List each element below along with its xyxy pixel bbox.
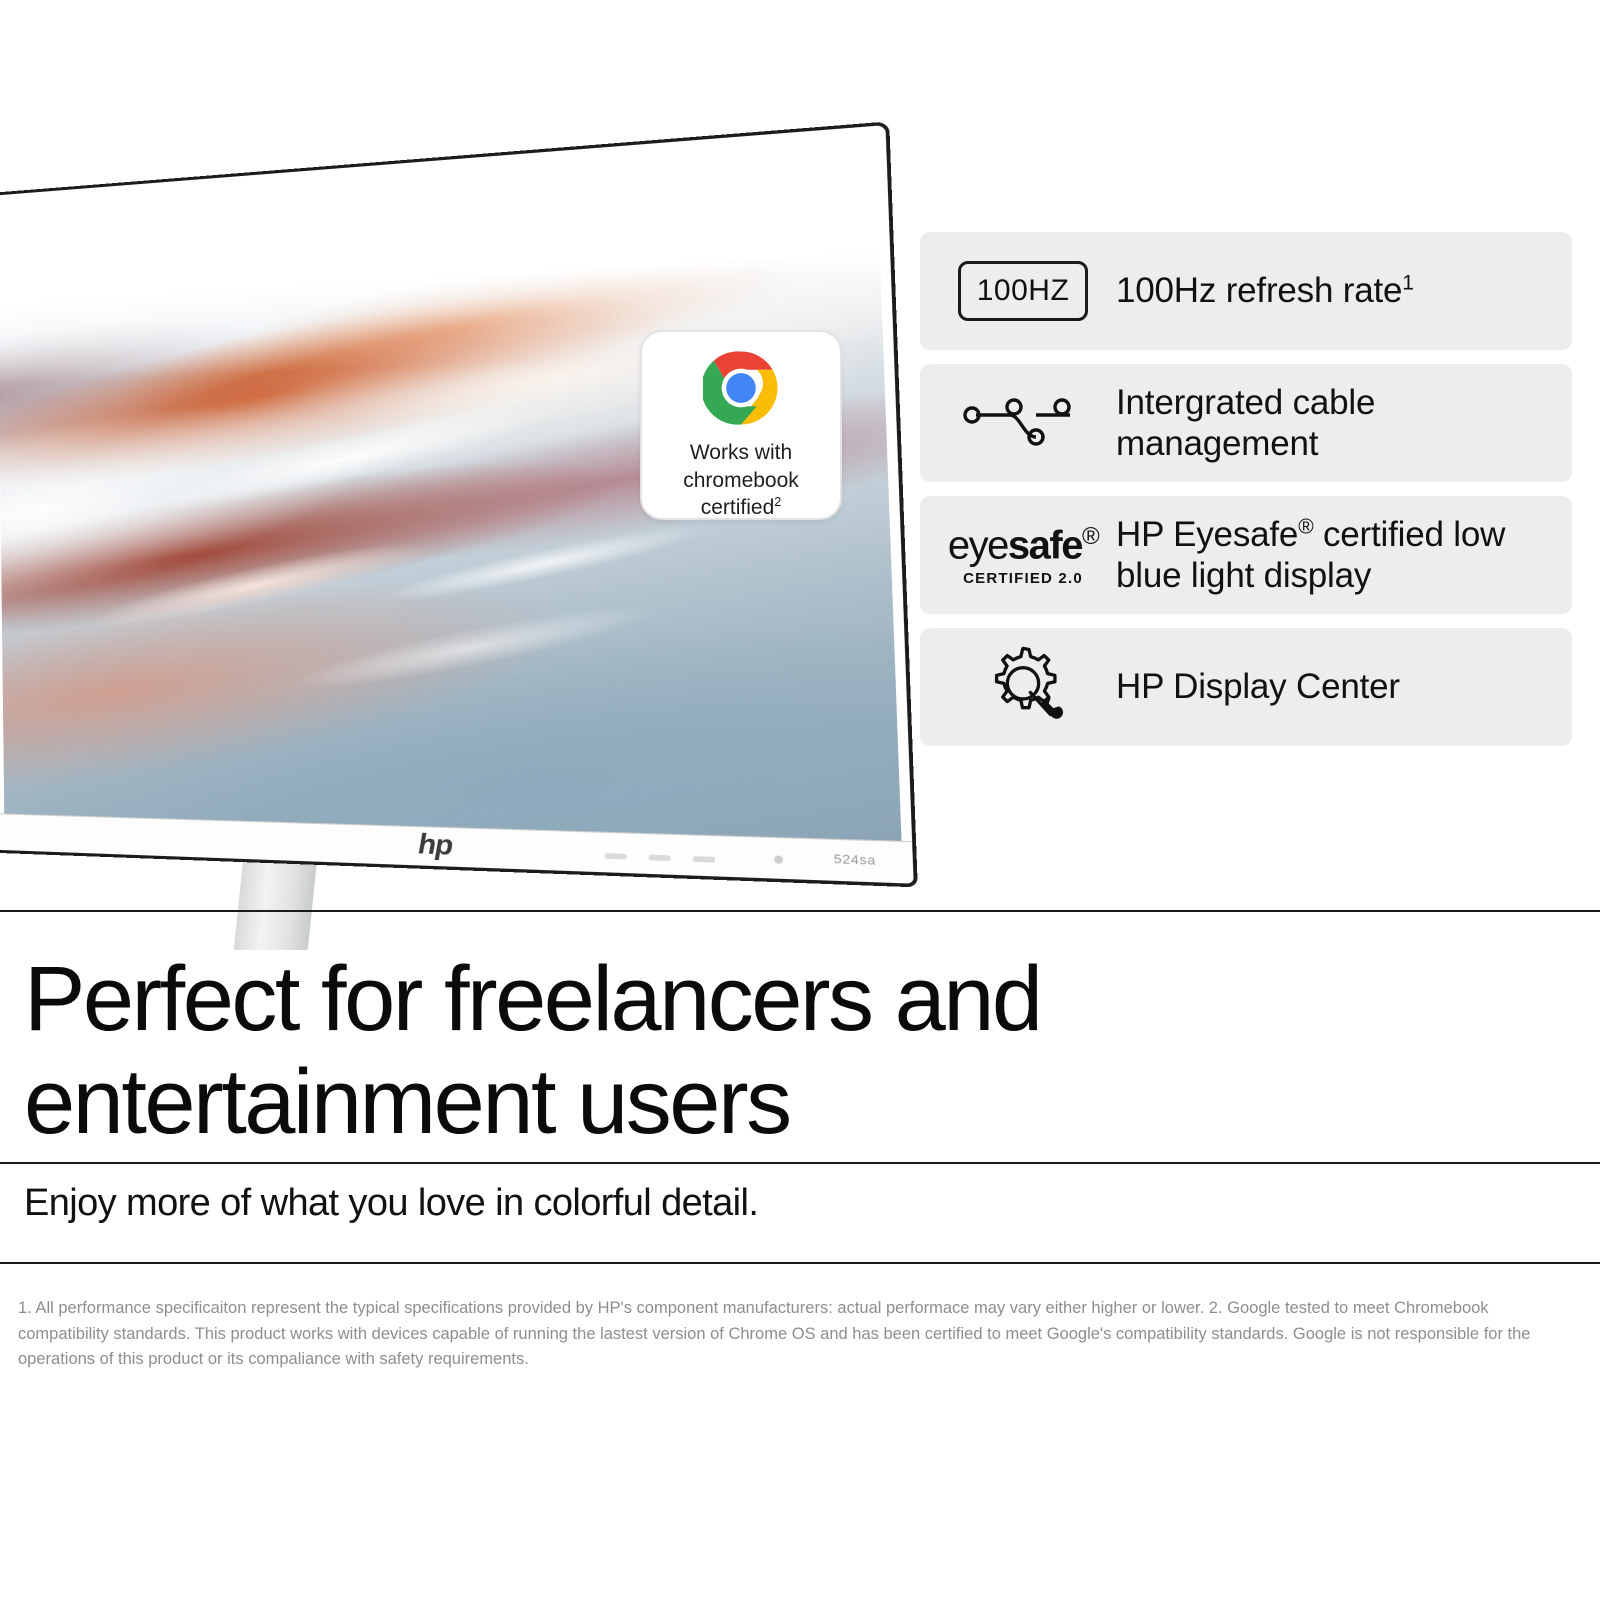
feature-cable-management: Intergrated cable management bbox=[920, 364, 1572, 482]
refresh-rate-badge-text: 100HZ bbox=[958, 261, 1089, 321]
hero-section: hp 524sa Works with bbox=[0, 0, 1600, 910]
chromebook-footnote-marker: 2 bbox=[774, 495, 781, 509]
chromebook-line-2: chromebook bbox=[683, 467, 799, 495]
chromebook-line-3: certified2 bbox=[683, 494, 799, 522]
gear-wrench-icon bbox=[938, 641, 1108, 733]
chromebook-badge-text: Works with chromebook certified2 bbox=[683, 439, 799, 522]
marketing-infographic-page: hp 524sa Works with bbox=[0, 0, 1600, 1600]
eyesafe-wordmark: eyesafe® bbox=[948, 523, 1098, 568]
page-subtitle: Enjoy more of what you love in colorful … bbox=[24, 1182, 758, 1225]
feature-eyesafe: eyesafe® CERTIFIED 2.0 HP Eyesafe® certi… bbox=[920, 496, 1572, 614]
feature-label-cable-management: Intergrated cable management bbox=[1116, 382, 1554, 465]
divider-headline bbox=[0, 1162, 1600, 1164]
footnotes-text: 1. All performance specificaiton represe… bbox=[18, 1296, 1578, 1373]
power-led-indicator bbox=[774, 855, 783, 863]
monitor-osd-buttons bbox=[605, 853, 715, 862]
feature-list: 100HZ 100Hz refresh rate1 bbox=[920, 232, 1572, 746]
feature-label-eyesafe: HP Eyesafe® certified low blue light dis… bbox=[1116, 514, 1554, 597]
feature-display-center: HP Display Center bbox=[920, 628, 1572, 746]
feature-refresh-rate: 100HZ 100Hz refresh rate1 bbox=[920, 232, 1572, 350]
divider-footnotes bbox=[0, 1262, 1600, 1264]
refresh-rate-badge-icon: 100HZ bbox=[938, 261, 1108, 321]
eyesafe-logo-icon: eyesafe® CERTIFIED 2.0 bbox=[938, 523, 1108, 587]
eyesafe-certified-text: CERTIFIED 2.0 bbox=[948, 570, 1098, 587]
feature-label-display-center: HP Display Center bbox=[1116, 666, 1400, 707]
chromebook-line-1: Works with bbox=[683, 439, 799, 467]
divider-top bbox=[0, 910, 1600, 912]
page-title: Perfect for freelancers and entertainmen… bbox=[24, 948, 1564, 1154]
hp-logo: hp bbox=[418, 827, 453, 862]
cable-management-icon bbox=[938, 385, 1108, 461]
feature-label-refresh-rate: 100Hz refresh rate1 bbox=[1116, 270, 1414, 311]
refresh-rate-footnote-marker: 1 bbox=[1402, 272, 1413, 295]
monitor-product-image: hp 524sa bbox=[0, 190, 830, 910]
monitor-model-label: 524sa bbox=[833, 853, 876, 868]
chrome-logo-icon bbox=[703, 350, 779, 431]
works-with-chromebook-badge: Works with chromebook certified2 bbox=[640, 330, 842, 520]
